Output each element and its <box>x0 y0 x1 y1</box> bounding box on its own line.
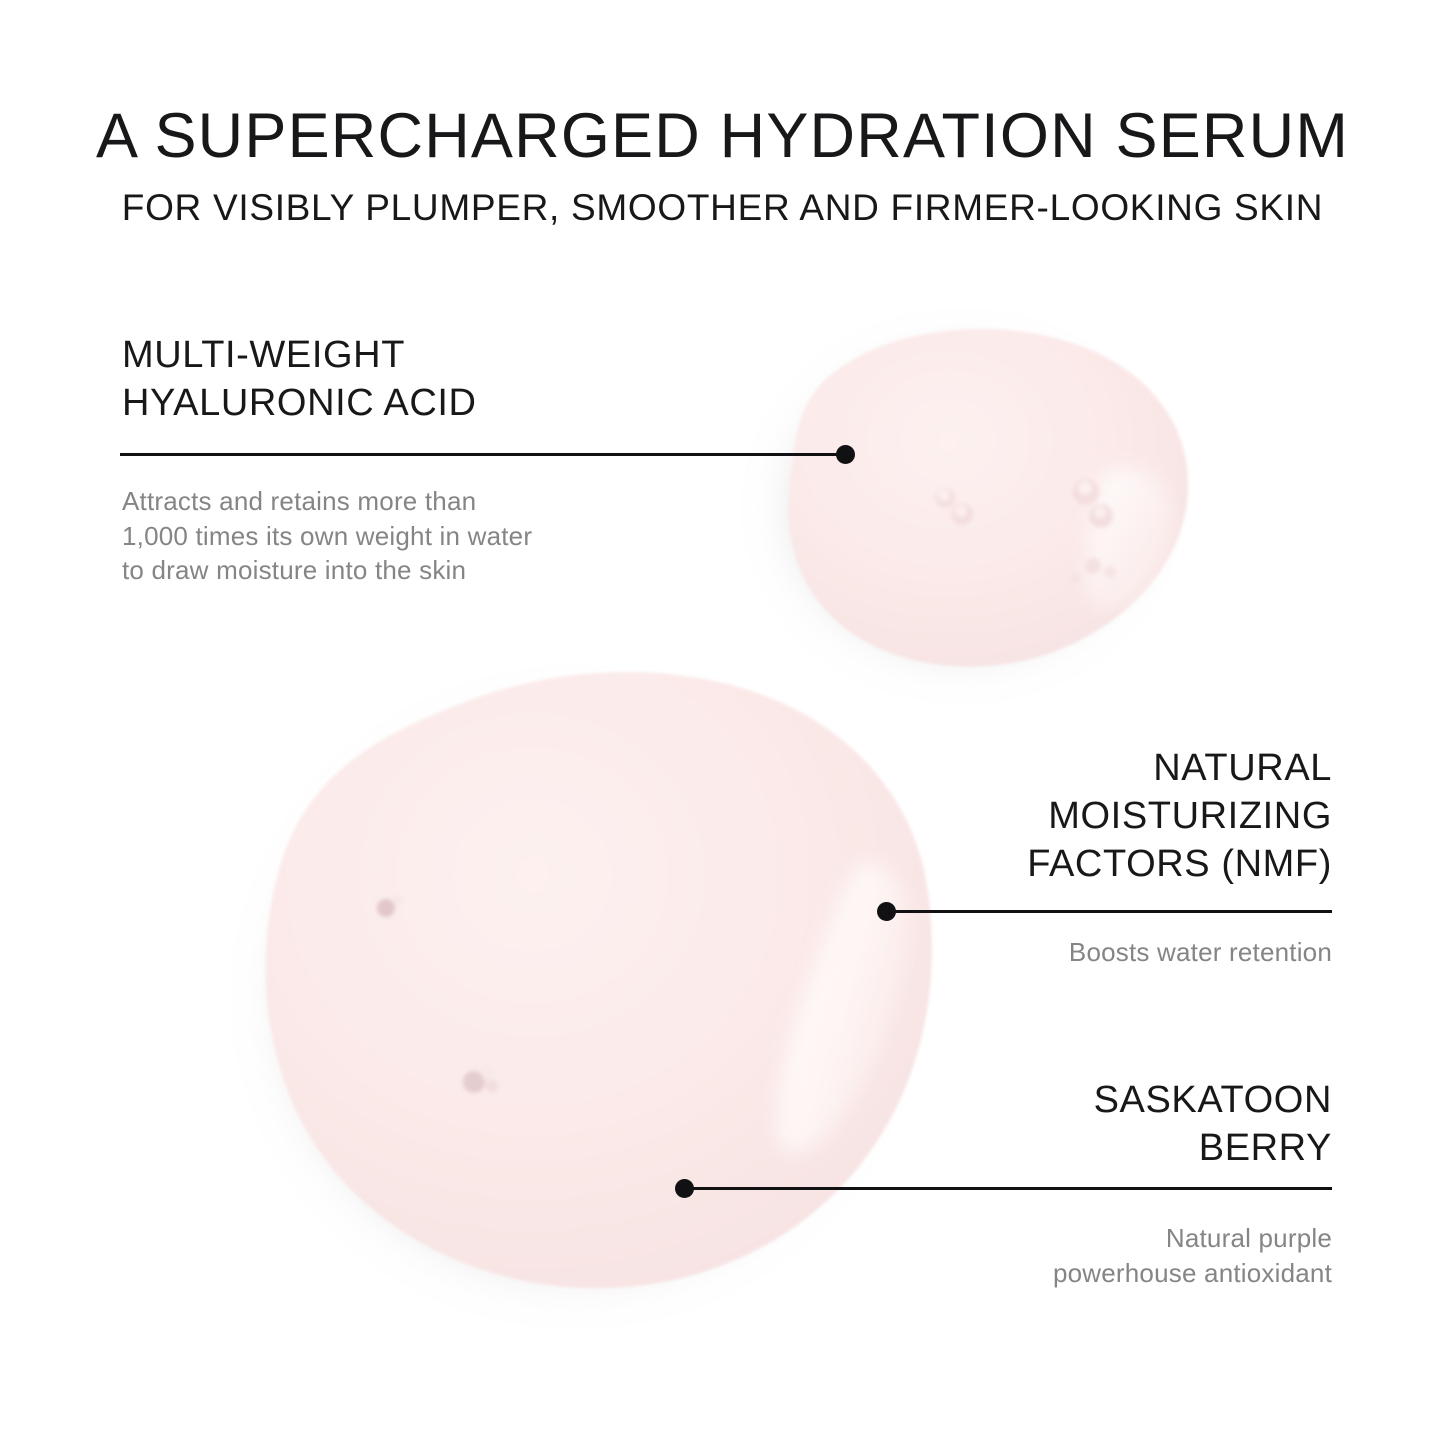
leader-line-saskatoon-berry <box>692 1187 1332 1190</box>
surface-speckle-upper <box>377 895 403 917</box>
leader-line-natural-moisturizing-factors <box>893 910 1332 913</box>
callout-body-saskatoon-berry: Natural purple powerhouse antioxidant <box>712 1221 1332 1290</box>
leader-dot-natural-moisturizing-factors <box>877 902 896 921</box>
callout-title-hyaluronic-acid: MULTI-WEIGHT HYALURONIC ACID <box>122 332 742 428</box>
callout-title-saskatoon-berry: SASKATOON BERRY <box>712 1077 1332 1173</box>
serum-droplet-upper <box>766 329 1188 678</box>
leader-dot-hyaluronic-acid <box>836 445 855 464</box>
callout-body-hyaluronic-acid: Attracts and retains more than 1,000 tim… <box>122 484 762 588</box>
infographic-canvas: A SUPERCHARGED HYDRATION SERUM FOR VISIB… <box>0 0 1445 1445</box>
surface-speckle-lower <box>463 1066 498 1093</box>
bubble-cluster-left <box>935 488 973 525</box>
leader-line-hyaluronic-acid <box>120 453 845 456</box>
callout-title-natural-moisturizing-factors: NATURAL MOISTURIZING FACTORS (NMF) <box>712 745 1332 889</box>
bubble-cluster-right <box>1070 479 1116 583</box>
callout-body-natural-moisturizing-factors: Boosts water retention <box>712 935 1332 970</box>
page-subheadline: FOR VISIBLY PLUMPER, SMOOTHER AND FIRMER… <box>0 188 1445 229</box>
page-headline: A SUPERCHARGED HYDRATION SERUM <box>0 103 1445 169</box>
leader-dot-saskatoon-berry <box>675 1179 694 1198</box>
